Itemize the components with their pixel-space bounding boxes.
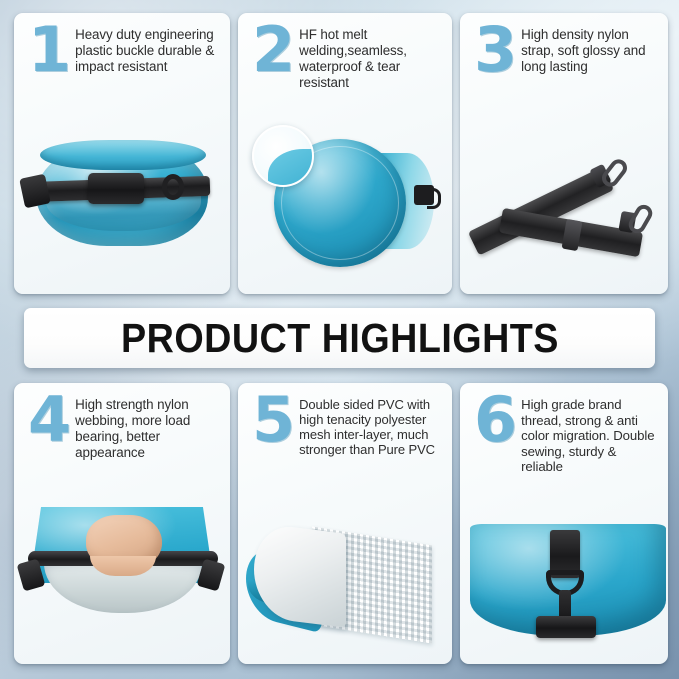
hand-holding-webbing-handle-photo — [14, 499, 230, 664]
highlight-card-2[interactable]: 2 HF hot melt welding,seamless, waterpro… — [238, 13, 452, 294]
card-6-number: 6 — [474, 395, 515, 475]
banner-title: PRODUCT HIGHLIGHTS — [121, 315, 559, 362]
card-2-text: HF hot melt welding,seamless, waterproof… — [299, 25, 442, 91]
nylon-shoulder-strap-photo — [460, 124, 668, 294]
card-6-text: High grade brand thread, strong & anti c… — [521, 395, 658, 475]
highlight-card-3[interactable]: 3 High density nylon strap, soft glossy … — [460, 13, 668, 294]
dry-bag-with-buckle-photo — [14, 124, 230, 294]
card-3-number: 3 — [474, 25, 515, 76]
card-1-header: 1 Heavy duty engineering plastic buckle … — [28, 25, 220, 76]
card-4-number: 4 — [28, 395, 69, 461]
card-6-header: 6 High grade brand thread, strong & anti… — [474, 395, 658, 475]
card-2-header: 2 HF hot melt welding,seamless, waterpro… — [252, 25, 442, 91]
card-4-header: 4 High strength nylon webbing, more load… — [28, 395, 220, 461]
card-2-number: 2 — [252, 25, 293, 91]
infographic-canvas: 1 Heavy duty engineering plastic buckle … — [0, 0, 679, 679]
card-1-text: Heavy duty engineering plastic buckle du… — [75, 25, 220, 76]
snap-clip — [536, 616, 596, 638]
hand — [86, 515, 162, 567]
magnifier-callout-circle — [252, 125, 314, 187]
card-3-text: High density nylon strap, soft glossy an… — [521, 25, 658, 76]
welded-seamless-base-photo — [238, 119, 452, 294]
highlight-card-4[interactable]: 4 High strength nylon webbing, more load… — [14, 383, 230, 664]
highlight-card-5[interactable]: 5 Double sided PVC with high tenacity po… — [238, 383, 452, 664]
card-4-text: High strength nylon webbing, more load b… — [75, 395, 220, 461]
plastic-buckle — [88, 173, 144, 204]
d-ring-webbing-attachment-photo — [460, 514, 668, 664]
product-highlights-banner: PRODUCT HIGHLIGHTS — [24, 308, 655, 368]
card-5-header: 5 Double sided PVC with high tenacity po… — [252, 395, 442, 457]
bag-roll-top — [40, 140, 206, 170]
card-5-number: 5 — [252, 395, 293, 457]
highlight-card-1[interactable]: 1 Heavy duty engineering plastic buckle … — [14, 13, 230, 294]
card-3-header: 3 High density nylon strap, soft glossy … — [474, 25, 658, 76]
pvc-mesh-interlayer-material-photo — [238, 514, 452, 664]
highlight-card-6[interactable]: 6 High grade brand thread, strong & anti… — [460, 383, 668, 664]
base-hook — [414, 185, 434, 205]
card-1-number: 1 — [28, 25, 69, 76]
card-5-text: Double sided PVC with high tenacity poly… — [299, 395, 442, 457]
d-ring — [162, 174, 184, 200]
